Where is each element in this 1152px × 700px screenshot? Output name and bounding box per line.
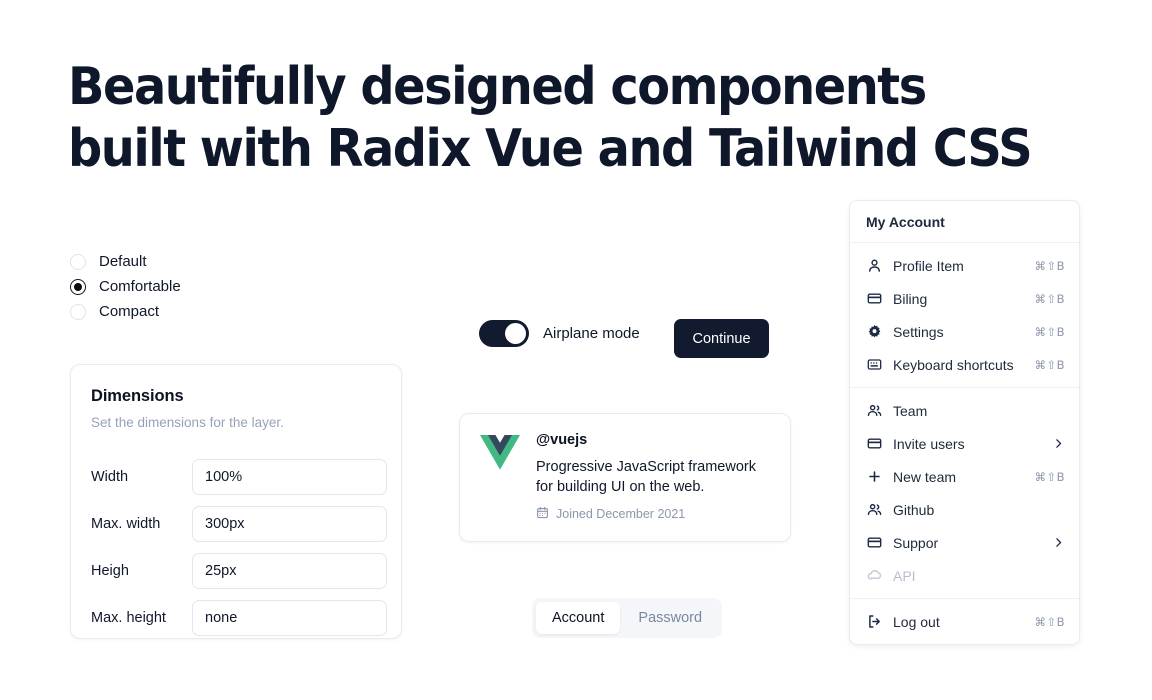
menu-item-new-team-shortcut: ⌘⇧B xyxy=(1034,470,1065,484)
label-max-height: Max. height xyxy=(91,610,192,626)
menu-item-log-out-shortcut: ⌘⇧B xyxy=(1034,615,1065,629)
hover-card-body: @vuejs Progressive JavaScript framework … xyxy=(536,432,770,523)
cloud-icon xyxy=(866,568,882,584)
credit-card-icon xyxy=(866,291,882,307)
label-height: Heigh xyxy=(91,563,192,579)
user-icon xyxy=(866,258,882,274)
continue-button[interactable]: Continue xyxy=(674,319,769,358)
radio-label-comfortable: Comfortable xyxy=(99,279,181,294)
menu-group-session: Log out ⌘⇧B xyxy=(850,599,1079,644)
dimensions-row-height: Heigh xyxy=(91,547,381,594)
radio-label-default: Default xyxy=(99,254,147,269)
menu-item-keyboard-shortcuts-shortcut: ⌘⇧B xyxy=(1034,358,1065,372)
vuejs-handle: @vuejs xyxy=(536,432,770,448)
vuejs-joined-text: Joined December 2021 xyxy=(556,507,685,521)
menu-item-log-out[interactable]: Log out ⌘⇧B xyxy=(850,605,1079,638)
dimensions-subtitle: Set the dimensions for the layer. xyxy=(91,415,381,430)
menu-item-settings-label: Settings xyxy=(893,324,1023,340)
switch-knob xyxy=(505,323,526,344)
menu-item-github-label: Github xyxy=(893,502,1054,518)
menu-item-profile[interactable]: Profile Item ⌘⇧B xyxy=(850,249,1079,282)
menu-item-team-label: Team xyxy=(893,403,1054,419)
airplane-mode-label: Airplane mode xyxy=(543,325,640,342)
menu-item-github[interactable]: Github xyxy=(850,493,1079,526)
menu-item-log-out-label: Log out xyxy=(893,614,1023,630)
menu-item-billing-shortcut: ⌘⇧B xyxy=(1034,292,1065,306)
menu-header-my-account: My Account xyxy=(850,201,1079,242)
credit-card-icon xyxy=(866,535,882,551)
input-max-width[interactable] xyxy=(192,506,387,542)
menu-item-team[interactable]: Team xyxy=(850,394,1079,427)
menu-group-account: Profile Item ⌘⇧B Biling ⌘⇧B xyxy=(850,243,1079,387)
menu-item-settings-shortcut: ⌘⇧B xyxy=(1034,325,1065,339)
users-icon xyxy=(866,403,882,419)
radio-option-comfortable[interactable]: Comfortable xyxy=(70,274,290,299)
menu-item-profile-shortcut: ⌘⇧B xyxy=(1034,259,1065,273)
dimensions-row-max-width: Max. width xyxy=(91,500,381,547)
radio-indicator-comfortable[interactable] xyxy=(70,279,86,295)
page-root: Beautifully designed components built wi… xyxy=(0,0,1152,700)
vuejs-hover-card: @vuejs Progressive JavaScript framework … xyxy=(459,413,791,542)
account-dropdown-menu: My Account Profile Item ⌘⇧B xyxy=(849,200,1080,645)
dimensions-title: Dimensions xyxy=(91,387,381,406)
radio-indicator-default[interactable] xyxy=(70,254,86,270)
dimensions-card: Dimensions Set the dimensions for the la… xyxy=(70,364,402,639)
menu-item-new-team-label: New team xyxy=(893,469,1023,485)
input-width[interactable] xyxy=(192,459,387,495)
airplane-mode-switch-row: Airplane mode xyxy=(479,320,640,347)
menu-item-api: API xyxy=(850,559,1079,592)
density-radio-group: Default Comfortable Compact xyxy=(70,249,290,324)
users-icon xyxy=(866,502,882,518)
airplane-mode-switch[interactable] xyxy=(479,320,529,347)
menu-item-billing[interactable]: Biling ⌘⇧B xyxy=(850,282,1079,315)
menu-item-keyboard-shortcuts-label: Keyboard shortcuts xyxy=(893,357,1023,373)
dimensions-field-list: Width Max. width Heigh Max. height xyxy=(91,453,381,641)
radio-indicator-compact[interactable] xyxy=(70,304,86,320)
keyboard-icon xyxy=(866,357,882,373)
radio-option-default[interactable]: Default xyxy=(70,249,290,274)
calendar-icon xyxy=(536,506,549,522)
menu-item-support[interactable]: Suppor xyxy=(850,526,1079,559)
plus-icon xyxy=(866,469,882,485)
tab-account[interactable]: Account xyxy=(536,602,620,634)
vue-logo-icon xyxy=(480,435,520,471)
chevron-right-icon xyxy=(1052,536,1065,549)
settings-tabs: Account Password xyxy=(532,598,722,638)
menu-item-support-label: Suppor xyxy=(893,535,1041,551)
dimensions-row-width: Width xyxy=(91,453,381,500)
page-title-line-2: built with Radix Vue and Tailwind CSS xyxy=(68,118,951,180)
dimensions-row-max-height: Max. height xyxy=(91,594,381,641)
page-title: Beautifully designed components built wi… xyxy=(68,56,1028,180)
menu-item-keyboard-shortcuts[interactable]: Keyboard shortcuts ⌘⇧B xyxy=(850,348,1079,381)
credit-card-icon xyxy=(866,436,882,452)
menu-item-api-label: API xyxy=(893,568,1054,584)
menu-item-billing-label: Biling xyxy=(893,291,1023,307)
label-width: Width xyxy=(91,469,192,485)
menu-item-settings[interactable]: Settings ⌘⇧B xyxy=(850,315,1079,348)
label-max-width: Max. width xyxy=(91,516,192,532)
radio-option-compact[interactable]: Compact xyxy=(70,299,290,324)
logout-icon xyxy=(866,614,882,630)
vuejs-joined-row: Joined December 2021 xyxy=(536,506,770,522)
input-height[interactable] xyxy=(192,553,387,589)
vuejs-description: Progressive JavaScript framework for bui… xyxy=(536,457,770,497)
tab-password[interactable]: Password xyxy=(622,602,718,634)
menu-item-profile-label: Profile Item xyxy=(893,258,1023,274)
menu-item-invite-users[interactable]: Invite users xyxy=(850,427,1079,460)
gear-icon xyxy=(866,324,882,340)
menu-item-new-team[interactable]: New team ⌘⇧B xyxy=(850,460,1079,493)
menu-group-team: Team Invite users xyxy=(850,388,1079,598)
menu-item-invite-users-label: Invite users xyxy=(893,436,1041,452)
page-title-line-1: Beautifully designed components xyxy=(68,56,951,118)
input-max-height[interactable] xyxy=(192,600,387,636)
radio-label-compact: Compact xyxy=(99,304,159,319)
chevron-right-icon xyxy=(1052,437,1065,450)
